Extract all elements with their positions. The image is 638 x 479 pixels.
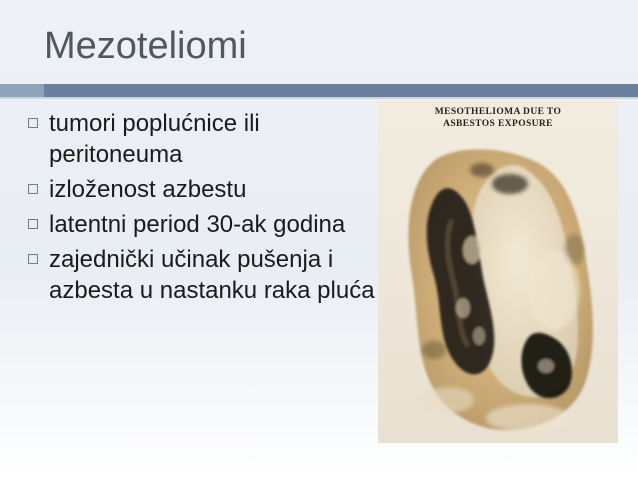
square-bullet-icon bbox=[28, 184, 38, 194]
list-item: zajednički učinak pušenja i azbesta u na… bbox=[28, 244, 383, 306]
pathology-image: MESOTHELIOMA DUE TO ASBESTOS EXPOSURE bbox=[378, 100, 618, 443]
list-item: latentni period 30-ak godina bbox=[28, 209, 383, 240]
specimen-illustration bbox=[378, 100, 618, 443]
list-item-label: latentni period 30-ak godina bbox=[49, 209, 383, 240]
page-title: Mezoteliomi bbox=[44, 24, 247, 68]
divider-left-segment bbox=[0, 84, 44, 97]
divider-right-segment bbox=[44, 84, 638, 97]
square-bullet-icon bbox=[28, 219, 38, 229]
image-caption-line-2: ASBESTOS EXPOSURE bbox=[378, 118, 618, 130]
divider-shadow bbox=[0, 97, 638, 99]
square-bullet-icon bbox=[28, 254, 38, 264]
list-item: tumori poplućnice ili peritoneuma bbox=[28, 108, 383, 170]
image-caption-line-1: MESOTHELIOMA DUE TO bbox=[378, 106, 618, 118]
list-item: izloženost azbestu bbox=[28, 174, 383, 205]
square-bullet-icon bbox=[28, 118, 38, 128]
slide: Mezoteliomi tumori poplućnice ili perito… bbox=[0, 0, 638, 479]
list-item-label: zajednički učinak pušenja i azbesta u na… bbox=[49, 244, 383, 306]
list-item-label: tumori poplućnice ili peritoneuma bbox=[49, 108, 383, 170]
bullet-list: tumori poplućnice ili peritoneuma izlože… bbox=[28, 108, 383, 310]
image-caption: MESOTHELIOMA DUE TO ASBESTOS EXPOSURE bbox=[378, 106, 618, 130]
list-item-label: izloženost azbestu bbox=[49, 174, 383, 205]
title-divider bbox=[0, 84, 638, 97]
